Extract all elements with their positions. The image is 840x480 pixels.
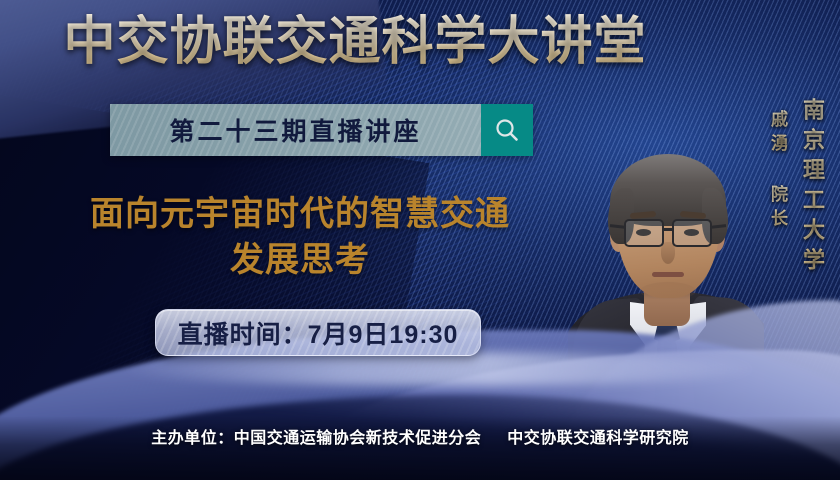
lecture-title-line-1: 面向元宇宙时代的智慧交通 [40,192,560,238]
organizer-secondary: 中交协联交通科学研究院 [507,430,689,447]
search-icon [493,116,521,144]
portrait-glasses-bridge [663,228,674,231]
episode-label: 第二十三期直播讲座 [169,112,421,148]
lecture-title-line-2: 发展思考 [40,238,560,284]
page-title: 中交协联交通科学大讲堂 [0,14,710,71]
portrait-chin [640,282,696,300]
organizer-primary: 主办单位：中国交通运输协会新技术促进分会 [151,430,481,447]
portrait-mouth [652,272,684,277]
speaker-role: 院长 [765,185,790,233]
broadcast-time-badge: 直播时间：7月9日19:30 [155,309,481,356]
speaker-portrait [568,92,764,422]
speaker-name: 戚湧 [765,110,790,158]
broadcast-time-text: 直播时间：7月9日19:30 [178,315,459,351]
portrait-bottom-fade [568,368,764,422]
episode-banner: 第二十三期直播讲座 [110,104,533,156]
speaker-organization: 南京理工大学 [796,98,828,278]
episode-label-box: 第二十三期直播讲座 [110,104,481,156]
livestream-poster: 中交协联交通科学大讲堂 第二十三期直播讲座 面向元宇宙时代的智慧交通 发展思考 … [0,0,840,480]
portrait-glasses-right-lens [672,219,712,247]
search-button[interactable] [481,104,533,156]
portrait-glasses-left-lens [624,219,664,247]
organizer-footer: 主办单位：中国交通运输协会新技术促进分会中交协联交通科学研究院 [0,424,840,448]
lecture-title: 面向元宇宙时代的智慧交通 发展思考 [40,192,560,284]
